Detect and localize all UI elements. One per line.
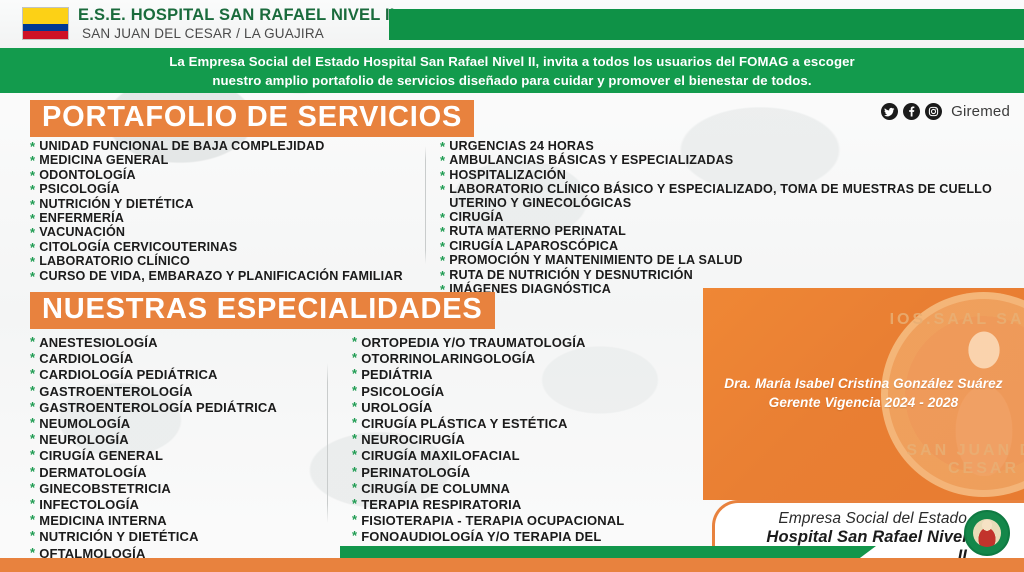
bullet-asterisk-icon: *: [30, 465, 35, 479]
list-item: *ENFERMERÍA: [30, 212, 403, 226]
service-label: ODONTOLOGÍA: [39, 169, 136, 183]
list-item: *CIRUGÍA DE COLUMNA: [352, 481, 651, 496]
list-item: *TERAPIA RESPIRATORIA: [352, 497, 651, 512]
service-label: LABORATORIO CLÍNICO: [39, 255, 190, 269]
list-item: *CIRUGÍA LAPAROSCÓPICA: [440, 240, 1001, 254]
bullet-asterisk-icon: *: [440, 183, 445, 197]
specialties-list-right: *ORTOPEDIA Y/O TRAUMATOLOGÍA *OTORRINOLA…: [352, 335, 651, 561]
manager-panel: IOS.SAAL SAFAEL SAN JUAN DEL CESAR Dra. …: [703, 288, 1024, 500]
top-header: E.S.E. HOSPITAL SAN RAFAEL NIVEL II SAN …: [0, 0, 1024, 48]
list-item: *ANESTESIOLOGÍA: [30, 335, 277, 350]
list-item: *AMBULANCIAS BÁSICAS Y ESPECIALIZADAS: [440, 154, 1001, 168]
list-item: *LABORATORIO CLÍNICO: [30, 255, 403, 269]
specialty-label: CIRUGÍA DE COLUMNA: [361, 481, 510, 496]
service-label: HOSPITALIZACIÓN: [449, 169, 566, 183]
bullet-asterisk-icon: *: [30, 241, 35, 255]
bullet-asterisk-icon: *: [30, 154, 35, 168]
list-item: *HOSPITALIZACIÓN: [440, 169, 1001, 183]
list-item: *CIRUGÍA PLÁSTICA Y ESTÉTICA: [352, 416, 651, 431]
service-label: CITOLOGÍA CERVICOUTERINAS: [39, 241, 237, 255]
specialties-column-divider: [327, 363, 328, 523]
bottom-orange-bar: [0, 558, 1024, 572]
social-handle[interactable]: Giremed: [951, 103, 1010, 120]
specialty-label: NEUROCIRUGÍA: [361, 432, 465, 447]
services-list-right: *URGENCIAS 24 HORAS *AMBULANCIAS BÁSICAS…: [440, 140, 1001, 297]
specialty-label: CARDIOLOGÍA: [39, 351, 133, 366]
specialty-label: NEUROLOGÍA: [39, 432, 129, 447]
list-item: *DERMATOLOGÍA: [30, 465, 277, 480]
services-column-divider: [425, 146, 426, 264]
hospital-logo-seal-icon: [964, 510, 1010, 556]
specialty-label: ANESTESIOLOGÍA: [39, 335, 157, 350]
list-item: *NEUROLOGÍA: [30, 432, 277, 447]
header-titles: E.S.E. HOSPITAL SAN RAFAEL NIVEL II SAN …: [78, 5, 395, 43]
specialty-label: OTORRINOLARINGOLOGÍA: [361, 351, 535, 366]
specialty-label: MEDICINA INTERNA: [39, 513, 167, 528]
bullet-asterisk-icon: *: [440, 154, 445, 168]
bullet-asterisk-icon: *: [30, 212, 35, 226]
bullet-asterisk-icon: *: [440, 269, 445, 283]
specialty-label: GINECOBSTETRICIA: [39, 481, 171, 496]
bullet-asterisk-icon: *: [30, 384, 35, 398]
hospital-location: SAN JUAN DEL CESAR / LA GUAJIRA: [78, 25, 395, 43]
specialty-label: TERAPIA RESPIRATORIA: [361, 497, 521, 512]
bullet-asterisk-icon: *: [352, 513, 357, 527]
bullet-asterisk-icon: *: [30, 497, 35, 511]
list-item: *GINECOBSTETRICIA: [30, 481, 277, 496]
list-item: *RUTA DE NUTRICIÓN Y DESNUTRICIÓN: [440, 269, 1001, 283]
specialty-label: DERMATOLOGÍA: [39, 465, 146, 480]
bullet-asterisk-icon: *: [352, 351, 357, 365]
bullet-asterisk-icon: *: [30, 335, 35, 349]
portfolio-poster: E.S.E. HOSPITAL SAN RAFAEL NIVEL II SAN …: [0, 0, 1024, 572]
list-item: *INFECTOLOGÍA: [30, 497, 277, 512]
bullet-asterisk-icon: *: [352, 465, 357, 479]
list-item: *NUTRICIÓN Y DIETÉTICA: [30, 198, 403, 212]
service-label: URGENCIAS 24 HORAS: [449, 140, 594, 154]
bullet-asterisk-icon: *: [30, 529, 35, 543]
bullet-asterisk-icon: *: [352, 384, 357, 398]
bullet-asterisk-icon: *: [30, 226, 35, 240]
social-links[interactable]: Giremed: [881, 103, 1010, 120]
service-label: VACUNACIÓN: [39, 226, 125, 240]
specialty-label: NUTRICIÓN Y DIETÉTICA: [39, 529, 198, 544]
list-item: *PEDIÁTRIA: [352, 367, 651, 382]
bullet-asterisk-icon: *: [440, 140, 445, 154]
bullet-asterisk-icon: *: [30, 351, 35, 365]
list-item: *CURSO DE VIDA, EMBARAZO Y PLANIFICACIÓN…: [30, 270, 403, 284]
list-item: *GASTROENTEROLOGÍA PEDIÁTRICA: [30, 400, 277, 415]
list-item: *LABORATORIO CLÍNICO BÁSICO Y ESPECIALIZ…: [440, 183, 1001, 210]
service-label: PROMOCIÓN Y MANTENIMIENTO DE LA SALUD: [449, 254, 742, 268]
list-item: *RUTA MATERNO PERINATAL: [440, 225, 1001, 239]
specialties-section-title: NUESTRAS ESPECIALIDADES: [30, 292, 495, 329]
manager-role: Gerente Vigencia 2024 - 2028: [703, 393, 1024, 412]
colombia-flag-icon: [22, 7, 69, 40]
bullet-asterisk-icon: *: [30, 183, 35, 197]
bullet-asterisk-icon: *: [352, 529, 357, 543]
specialty-label: ORTOPEDIA Y/O TRAUMATOLOGÍA: [361, 335, 585, 350]
bullet-asterisk-icon: *: [30, 140, 35, 154]
list-item: *ORTOPEDIA Y/O TRAUMATOLOGÍA: [352, 335, 651, 350]
invitation-line-2: nuestro amplio portafolio de servicios d…: [212, 71, 811, 90]
services-section-title: PORTAFOLIO DE SERVICIOS: [30, 100, 474, 137]
list-item: *PSICOLOGÍA: [352, 384, 651, 399]
bullet-asterisk-icon: *: [352, 481, 357, 495]
seal-inner-figure: [973, 519, 1001, 547]
list-item: *URGENCIAS 24 HORAS: [440, 140, 1001, 154]
service-label: MEDICINA GENERAL: [39, 154, 168, 168]
instagram-icon[interactable]: [925, 103, 942, 120]
specialty-label: UROLOGÍA: [361, 400, 432, 415]
bullet-asterisk-icon: *: [352, 448, 357, 462]
specialty-label: NEUMOLOGÍA: [39, 416, 130, 431]
list-item: *NEUROCIRUGÍA: [352, 432, 651, 447]
flag-yellow-band: [23, 8, 68, 24]
specialty-label: CARDIOLOGÍA PEDIÁTRICA: [39, 367, 217, 382]
list-item: *NEUMOLOGÍA: [30, 416, 277, 431]
service-label: RUTA DE NUTRICIÓN Y DESNUTRICIÓN: [449, 269, 693, 283]
service-label: NUTRICIÓN Y DIETÉTICA: [39, 198, 194, 212]
bullet-asterisk-icon: *: [352, 432, 357, 446]
service-label: CIRUGÍA LAPAROSCÓPICA: [449, 240, 618, 254]
list-item: *MEDICINA GENERAL: [30, 154, 403, 168]
invitation-banner: La Empresa Social del Estado Hospital Sa…: [0, 48, 1024, 93]
bullet-asterisk-icon: *: [30, 367, 35, 381]
specialty-label: GASTROENTEROLOGÍA: [39, 384, 193, 399]
manager-name: Dra. María Isabel Cristina González Suár…: [703, 374, 1024, 393]
service-label: CIRUGÍA: [449, 211, 503, 225]
specialty-label: PEDIÁTRIA: [361, 367, 432, 382]
specialty-label: CIRUGÍA MAXILOFACIAL: [361, 448, 520, 463]
bullet-asterisk-icon: *: [30, 481, 35, 495]
bullet-asterisk-icon: *: [440, 254, 445, 268]
bullet-asterisk-icon: *: [352, 367, 357, 381]
bullet-asterisk-icon: *: [440, 240, 445, 254]
service-label: ENFERMERÍA: [39, 212, 124, 226]
list-item: *UNIDAD FUNCIONAL DE BAJA COMPLEJIDAD: [30, 140, 403, 154]
list-item: *UROLOGÍA: [352, 400, 651, 415]
list-item: *CITOLOGÍA CERVICOUTERINAS: [30, 241, 403, 255]
specialty-label: FISIOTERAPIA - TERAPIA OCUPACIONAL: [361, 513, 624, 528]
list-item: *PERINATOLOGÍA: [352, 465, 651, 480]
specialty-label: PERINATOLOGÍA: [361, 465, 470, 480]
flag-red-band: [23, 31, 68, 39]
specialty-label: CIRUGÍA PLÁSTICA Y ESTÉTICA: [361, 416, 567, 431]
list-item: *OTORRINOLARINGOLOGÍA: [352, 351, 651, 366]
list-item: *ODONTOLOGÍA: [30, 169, 403, 183]
service-label: UNIDAD FUNCIONAL DE BAJA COMPLEJIDAD: [39, 140, 324, 154]
seal-bottom-text: SAN JUAN DEL CESAR: [888, 442, 1024, 478]
bullet-asterisk-icon: *: [30, 416, 35, 430]
service-label: RUTA MATERNO PERINATAL: [449, 225, 626, 239]
list-item: *NUTRICIÓN Y DIETÉTICA: [30, 529, 277, 544]
bullet-asterisk-icon: *: [30, 448, 35, 462]
facebook-icon[interactable]: [903, 103, 920, 120]
specialties-list-left: *ANESTESIOLOGÍA *CARDIOLOGÍA *CARDIOLOGÍ…: [30, 335, 277, 562]
specialty-label: CIRUGÍA GENERAL: [39, 448, 163, 463]
specialty-label: GASTROENTEROLOGÍA PEDIÁTRICA: [39, 400, 277, 415]
list-item: *PSICOLOGÍA: [30, 183, 403, 197]
list-item: *CIRUGÍA GENERAL: [30, 448, 277, 463]
seal-top-text: IOS.SAAL SAFAEL: [888, 311, 1024, 329]
footer-line-1: Empresa Social del Estado: [755, 510, 967, 528]
bullet-asterisk-icon: *: [440, 225, 445, 239]
service-label: LABORATORIO CLÍNICO BÁSICO Y ESPECIALIZA…: [449, 183, 1001, 210]
list-item: *CIRUGÍA MAXILOFACIAL: [352, 448, 651, 463]
specialty-label: PSICOLOGÍA: [361, 384, 444, 399]
list-item: *MEDICINA INTERNA: [30, 513, 277, 528]
bullet-asterisk-icon: *: [352, 400, 357, 414]
manager-credit: Dra. María Isabel Cristina González Suár…: [703, 374, 1024, 412]
bullet-asterisk-icon: *: [440, 211, 445, 225]
bullet-asterisk-icon: *: [30, 255, 35, 269]
service-label: CURSO DE VIDA, EMBARAZO Y PLANIFICACIÓN …: [39, 270, 403, 284]
bullet-asterisk-icon: *: [30, 270, 35, 284]
bullet-asterisk-icon: *: [30, 400, 35, 414]
header-green-bar: [389, 9, 1024, 40]
service-label: PSICOLOGÍA: [39, 183, 120, 197]
bullet-asterisk-icon: *: [440, 169, 445, 183]
service-label: AMBULANCIAS BÁSICAS Y ESPECIALIZADAS: [449, 154, 733, 168]
bullet-asterisk-icon: *: [30, 198, 35, 212]
list-item: *VACUNACIÓN: [30, 226, 403, 240]
bullet-asterisk-icon: *: [30, 169, 35, 183]
services-list-left: *UNIDAD FUNCIONAL DE BAJA COMPLEJIDAD *M…: [30, 140, 403, 284]
hospital-name: E.S.E. HOSPITAL SAN RAFAEL NIVEL II: [78, 5, 395, 25]
bullet-asterisk-icon: *: [352, 497, 357, 511]
list-item: *CARDIOLOGÍA: [30, 351, 277, 366]
list-item: *CARDIOLOGÍA PEDIÁTRICA: [30, 367, 277, 382]
list-item: *FISIOTERAPIA - TERAPIA OCUPACIONAL: [352, 513, 651, 528]
invitation-line-1: La Empresa Social del Estado Hospital Sa…: [169, 52, 855, 71]
bullet-asterisk-icon: *: [352, 416, 357, 430]
list-item: *CIRUGÍA: [440, 211, 1001, 225]
specialty-label: INFECTOLOGÍA: [39, 497, 139, 512]
twitter-icon[interactable]: [881, 103, 898, 120]
bullet-asterisk-icon: *: [30, 513, 35, 527]
flag-blue-band: [23, 24, 68, 32]
list-item: *PROMOCIÓN Y MANTENIMIENTO DE LA SALUD: [440, 254, 1001, 268]
bullet-asterisk-icon: *: [352, 335, 357, 349]
bullet-asterisk-icon: *: [30, 432, 35, 446]
list-item: *GASTROENTEROLOGÍA: [30, 384, 277, 399]
